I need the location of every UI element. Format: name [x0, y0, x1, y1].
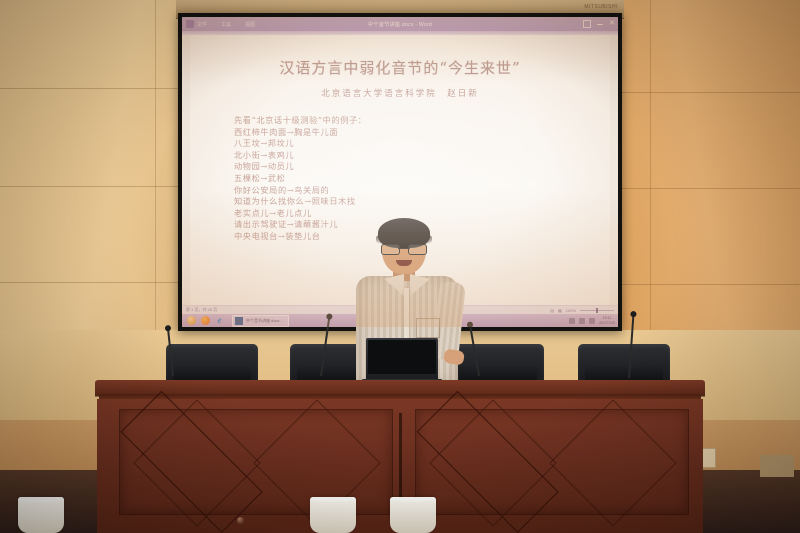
volume-icon[interactable]	[579, 318, 585, 324]
window-title: 中个音节讲座.docx - Word	[182, 21, 618, 28]
word-titlebar: 文件 工具 视图 中个音节讲座.docx - Word ✕	[182, 17, 618, 31]
body-line: 动物园→动员儿	[234, 161, 610, 173]
taskbar-item-word[interactable]: W 中个音节讲座.docx...	[232, 315, 289, 327]
body-line: 五棵松→武松	[234, 173, 610, 185]
glasses-lens-left	[381, 244, 400, 255]
battery-icon[interactable]	[589, 318, 595, 324]
lecture-hall-photo: MITSUBISHI 文件 工具 视图 中个音节讲座.docx - Word	[0, 0, 800, 533]
firefox-icon[interactable]	[201, 316, 210, 325]
zoom-level-label[interactable]: 100%	[566, 308, 576, 313]
paper-cup	[390, 497, 436, 533]
system-tray: 19:11 2017/7/20	[569, 314, 615, 327]
body-line: 西红柿牛肉面→胸是牛儿面	[234, 127, 610, 139]
body-line: 先看“北京话十级测验”中的例子：	[234, 115, 610, 127]
minimize-icon[interactable]	[597, 23, 603, 25]
web-view-icon[interactable]: ▦	[558, 308, 562, 313]
clock-date: 2017/7/20	[599, 321, 615, 325]
podium-diamond-right-b	[549, 399, 676, 526]
right-wall-panels	[610, 0, 800, 380]
restore-icon[interactable]	[583, 20, 591, 28]
baseboard	[760, 455, 794, 477]
network-icon[interactable]	[569, 318, 575, 324]
status-bar-right: ▤ ▦ 100%	[550, 306, 614, 314]
taskbar-clock[interactable]: 19:11 2017/7/20	[599, 316, 615, 324]
close-icon[interactable]: ✕	[609, 21, 615, 27]
body-line: 你好公安局的→鸟关局的	[234, 185, 610, 197]
taskbar-item-label: 中个音节讲座.docx...	[246, 318, 283, 324]
body-line: 八王坟→邦坟儿	[234, 138, 610, 150]
left-wall-panels	[0, 0, 192, 380]
body-line: 知道为什么找你么→照味日木找	[234, 196, 610, 208]
internet-explorer-icon[interactable]: e	[215, 316, 224, 325]
podium-diamond-right-a	[430, 399, 557, 526]
shirt-pocket	[416, 318, 440, 338]
glasses-icon	[381, 244, 427, 253]
body-line: 北小街→表鸡儿	[234, 150, 610, 162]
page-count-label: 第 1 页，共 26 页	[186, 307, 217, 313]
quick-launch-bar: e	[187, 316, 224, 325]
document-title: 汉语方言中弱化音节的“今生来世”	[190, 57, 610, 78]
podium-panel-right	[415, 409, 689, 515]
word-icon: W	[235, 317, 243, 325]
microphone-head-icon	[630, 311, 636, 317]
podium-knob	[237, 517, 244, 524]
paper-cup	[18, 497, 64, 533]
zoom-slider[interactable]	[580, 310, 614, 311]
page-view-icon[interactable]: ▤	[550, 308, 554, 313]
document-subtitle: 北京语言大学语言科学院 赵日新	[190, 87, 610, 99]
laptop-screen	[368, 340, 436, 374]
paper-cup	[310, 497, 356, 533]
browser-globe-icon[interactable]	[187, 316, 196, 325]
body-line: 老实点儿→老儿点儿	[234, 208, 610, 220]
presenter-laptop	[366, 338, 438, 382]
podium-diamond-left-a	[134, 399, 261, 526]
projector-brand-label: MITSUBISHI	[584, 4, 618, 10]
window-controls: ✕	[583, 17, 615, 31]
glasses-lens-right	[408, 244, 427, 255]
